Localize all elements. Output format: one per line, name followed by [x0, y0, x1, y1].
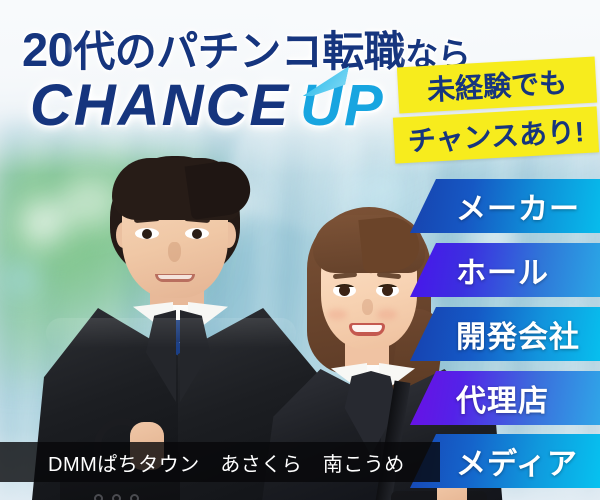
logo-main-text: CHANCE [30, 73, 290, 138]
man-mouth [155, 274, 195, 282]
category-label-0: メーカー [456, 184, 580, 228]
woman-eye-right [376, 284, 399, 297]
category-banner-maker[interactable]: メーカー [410, 179, 600, 233]
badge-label-0: 未経験でも [426, 61, 568, 109]
category-banner-hall[interactable]: ホール [410, 243, 600, 297]
woman-cheek-left [327, 309, 347, 320]
credit-text: DMMぱちタウン あさくら 南こうめ [48, 448, 405, 477]
woman-mouth [349, 323, 385, 336]
logo-accent-wrap: UP [300, 72, 385, 139]
man-shoulder-highlight [46, 318, 296, 348]
category-label-1: ホール [456, 248, 549, 292]
man-eye-right [185, 228, 209, 239]
category-banner-development-company[interactable]: 開発会社 [410, 307, 600, 361]
man-eye-left [135, 228, 159, 239]
category-banner-agency[interactable]: 代理店 [410, 371, 600, 425]
badge-label-1: チャンスあり! [407, 110, 585, 160]
headline-main: 代のパチンコ転職 [73, 28, 405, 75]
category-label-4: メディア [456, 439, 578, 483]
credit-bar: DMMぱちタウン あさくら 南こうめ [0, 442, 440, 482]
woman-cheek-right [377, 309, 397, 320]
category-label-2: 開発会社 [456, 312, 580, 356]
man-nose [168, 242, 181, 262]
headline-number: 20 [22, 23, 73, 76]
woman-eye-left [333, 284, 356, 297]
category-label-3: 代理店 [456, 376, 549, 420]
man-hair-sweep [185, 158, 254, 220]
chance-up-logo: CHANCEUP [30, 72, 385, 139]
advertisement-banner[interactable]: 20代のパチンコ転職なら CHANCEUP 未経験でも チャンスあり! メーカー… [0, 0, 600, 500]
man-briefcase-clasps [94, 494, 150, 500]
woman-nose [362, 299, 373, 315]
